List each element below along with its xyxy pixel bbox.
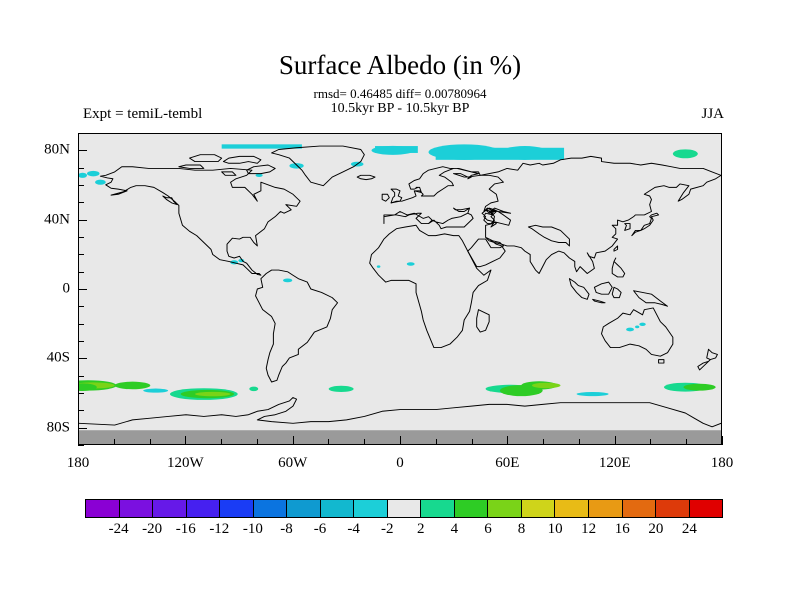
colorbar-tick-label: 12	[581, 521, 596, 538]
australia-anomaly	[626, 328, 634, 332]
colorbar-segment[interactable]	[187, 500, 221, 517]
x-tick	[364, 439, 365, 445]
bering-sea-anomaly	[95, 180, 106, 185]
coastline	[528, 225, 569, 246]
sahel-anomaly	[407, 262, 415, 265]
y-tick	[78, 133, 84, 134]
arctic-barents-anomaly	[429, 144, 500, 160]
y-tick	[78, 168, 84, 169]
bering-sea-anomaly	[87, 171, 99, 177]
colorbar-segment[interactable]	[153, 500, 187, 517]
coastline	[272, 146, 365, 186]
coastline	[163, 196, 177, 205]
x-tick	[615, 436, 616, 445]
y-tick	[78, 410, 84, 411]
coastline	[179, 165, 204, 168]
coastline	[614, 246, 618, 251]
y-axis-label: 40S	[47, 350, 70, 367]
x-tick	[221, 439, 222, 445]
x-axis-label: 0	[396, 455, 404, 472]
x-axis-label: 180	[67, 455, 90, 472]
bering-strait-anomaly	[79, 173, 87, 178]
colorbar-tick-label: 24	[682, 521, 697, 538]
statistics-line: rmsd= 0.46485 diff= 0.00780964	[0, 86, 800, 102]
colorbar-segment[interactable]	[555, 500, 589, 517]
coastline-layer	[79, 146, 721, 427]
y-tick	[78, 341, 84, 342]
coastline	[384, 208, 473, 229]
x-tick	[472, 439, 473, 445]
world-map	[79, 134, 721, 444]
coastline	[477, 310, 489, 332]
coastline	[357, 175, 375, 179]
coastline	[612, 287, 621, 297]
y-tick	[78, 150, 87, 151]
southern-ocean-ross-anomaly	[684, 384, 716, 391]
y-tick	[78, 428, 87, 429]
colorbar-tick-label: -4	[347, 521, 360, 538]
colorbar-tick-label: -8	[280, 521, 293, 538]
x-tick	[328, 439, 329, 445]
colorbar-segment[interactable]	[254, 500, 288, 517]
southern-ocean-anomaly	[577, 392, 609, 396]
coastline	[594, 282, 612, 294]
southern-ocean-anomaly	[195, 392, 231, 396]
east-siberian-anomaly	[673, 149, 698, 158]
baffin-bay-anomaly	[289, 163, 303, 169]
season-label: JJA	[701, 106, 724, 123]
x-axis-label: 180	[711, 455, 734, 472]
coastline	[391, 167, 480, 203]
colorbar-segment[interactable]	[690, 500, 723, 517]
southern-ocean-anomaly	[143, 389, 168, 393]
coastline	[222, 172, 236, 175]
y-tick	[78, 445, 84, 446]
y-tick	[78, 237, 84, 238]
australia-anomaly	[635, 326, 639, 329]
x-tick	[543, 439, 544, 445]
southern-ocean-anomaly	[115, 382, 151, 390]
y-tick	[78, 220, 87, 221]
y-axis-label: 0	[63, 281, 71, 298]
colorbar-segment[interactable]	[623, 500, 657, 517]
colorbar[interactable]	[85, 499, 723, 518]
x-tick	[185, 436, 186, 445]
colorbar-tick-label: -6	[314, 521, 327, 538]
x-tick	[400, 436, 401, 445]
colorbar-segment[interactable]	[656, 500, 690, 517]
coastline	[625, 224, 630, 231]
map-plot-area	[78, 133, 722, 445]
colorbar-segment[interactable]	[488, 500, 522, 517]
coastline	[659, 360, 664, 363]
colorbar-tick-label: -12	[209, 521, 229, 538]
y-tick	[78, 324, 84, 325]
y-tick	[78, 202, 84, 203]
coastline	[602, 308, 673, 356]
x-axis-label: 60W	[278, 455, 307, 472]
colorbar-tick-label: 2	[417, 521, 425, 538]
x-tick	[686, 439, 687, 445]
colorbar-tick-label: 10	[548, 521, 563, 538]
coastline	[256, 270, 338, 382]
experiment-label: Expt = temiL-tembl	[83, 106, 202, 123]
weddell-sea-anomaly	[329, 386, 354, 392]
x-tick	[722, 436, 723, 445]
y-tick	[78, 306, 84, 307]
x-tick	[293, 436, 294, 445]
coastline	[593, 299, 605, 302]
colorbar-tick-label: 20	[648, 521, 663, 538]
x-axis-label: 120W	[167, 455, 204, 472]
x-tick	[78, 436, 79, 445]
colorbar-segment[interactable]	[220, 500, 254, 517]
colorbar-tick-label: -20	[142, 521, 162, 538]
colorbar-segment[interactable]	[354, 500, 388, 517]
hudson-strait-anomaly	[256, 174, 263, 177]
coastline	[468, 156, 721, 273]
colorbar-tick-label: 8	[518, 521, 526, 538]
colorbar-tick-label: -16	[176, 521, 196, 538]
coastline	[190, 155, 222, 162]
colorbar-segment[interactable]	[86, 500, 120, 517]
x-axis-label: 60E	[495, 455, 519, 472]
y-tick	[78, 185, 84, 186]
coastline	[79, 398, 721, 427]
colorbar-tick-label: -24	[109, 521, 129, 538]
amazon-anomaly	[283, 278, 292, 282]
y-axis-label: 80N	[44, 142, 70, 159]
y-tick	[78, 376, 84, 377]
colorbar-segment[interactable]	[455, 500, 489, 517]
y-tick	[78, 272, 84, 273]
x-tick	[114, 439, 115, 445]
colorbar-tick-label: 4	[451, 521, 459, 538]
colorbar-segment[interactable]	[589, 500, 623, 517]
x-axis-label: 120E	[599, 455, 631, 472]
sahel-anomaly	[377, 265, 381, 267]
x-tick	[579, 439, 580, 445]
colorbar-tick-label: -2	[381, 521, 394, 538]
colorbar-segment[interactable]	[321, 500, 355, 517]
colorbar-segment[interactable]	[287, 500, 321, 517]
y-tick	[78, 254, 84, 255]
y-tick	[78, 358, 87, 359]
coastline	[707, 349, 718, 359]
x-tick	[436, 439, 437, 445]
coastline	[569, 279, 589, 300]
coastline	[223, 156, 260, 163]
colorbar-segment[interactable]	[522, 500, 556, 517]
x-tick	[650, 439, 651, 445]
coastline	[698, 360, 710, 370]
coastline	[634, 291, 668, 307]
coastline	[632, 213, 659, 235]
greenland-sea-anomaly	[371, 146, 414, 155]
southern-ocean-anomaly	[249, 387, 258, 391]
australia-anomaly	[639, 323, 645, 326]
x-tick	[257, 439, 258, 445]
y-axis-label: 80S	[47, 419, 70, 436]
anomaly-layer	[79, 144, 716, 400]
y-axis-label: 40N	[44, 211, 70, 228]
southern-ocean-indian-anomaly	[532, 383, 561, 389]
colorbar-tick-label: 16	[615, 521, 630, 538]
page-title: Surface Albedo (in %)	[0, 50, 800, 81]
x-tick	[507, 436, 508, 445]
x-tick	[150, 439, 151, 445]
coastline	[370, 225, 491, 347]
arctic-kara-anomaly	[500, 146, 550, 160]
y-tick	[78, 393, 84, 394]
coastline	[247, 165, 276, 174]
y-tick	[78, 289, 87, 290]
colorbar-segment[interactable]	[388, 500, 422, 517]
colorbar-segment[interactable]	[120, 500, 154, 517]
coastline	[382, 194, 389, 201]
colorbar-segment[interactable]	[421, 500, 455, 517]
colorbar-tick-label: -10	[243, 521, 263, 538]
figure-root: Surface Albedo (in %) rmsd= 0.46485 diff…	[0, 0, 800, 600]
colorbar-tick-label: 6	[484, 521, 492, 538]
coastline	[100, 167, 300, 276]
coastline	[612, 258, 624, 277]
